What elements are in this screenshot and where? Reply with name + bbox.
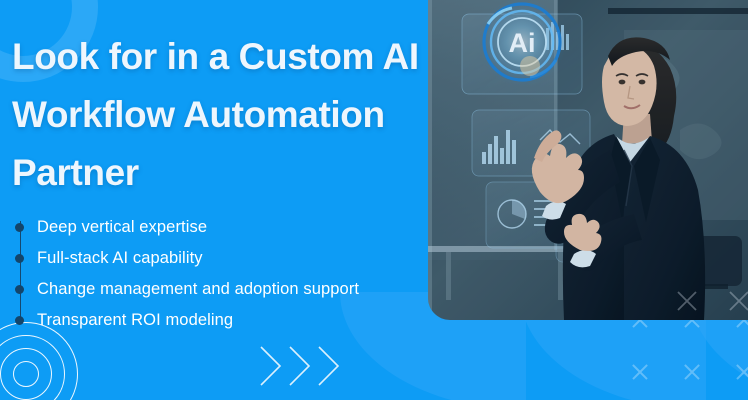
hero-image: Ai xyxy=(428,0,748,320)
list-item-label: Deep vertical expertise xyxy=(37,218,207,237)
x-mark-icon xyxy=(630,362,650,382)
list-item-label: Transparent ROI modeling xyxy=(37,311,233,330)
list-item-label: Full-stack AI capability xyxy=(37,249,203,268)
banner-content: Look for in a Custom AI Workflow Automat… xyxy=(0,0,430,400)
hero-image-illustration: Ai xyxy=(428,0,748,320)
benefits-list: Deep vertical expertise Full-stack AI ca… xyxy=(10,212,430,336)
list-item-label: Change management and adoption support xyxy=(37,280,359,299)
bullet-dot-icon xyxy=(15,285,24,294)
bullet-dot-icon xyxy=(15,254,24,263)
list-item: Deep vertical expertise xyxy=(10,212,430,243)
list-item: Full-stack AI capability xyxy=(10,243,430,274)
page-title: Look for in a Custom AI Workflow Automat… xyxy=(12,28,432,202)
x-mark-icon xyxy=(734,362,748,382)
bullet-dot-icon xyxy=(15,316,24,325)
bullet-dot-icon xyxy=(15,223,24,232)
marketing-banner: Ai xyxy=(0,0,748,400)
x-mark-icon xyxy=(682,362,702,382)
list-item: Change management and adoption support xyxy=(10,274,430,305)
list-item: Transparent ROI modeling xyxy=(10,305,430,336)
